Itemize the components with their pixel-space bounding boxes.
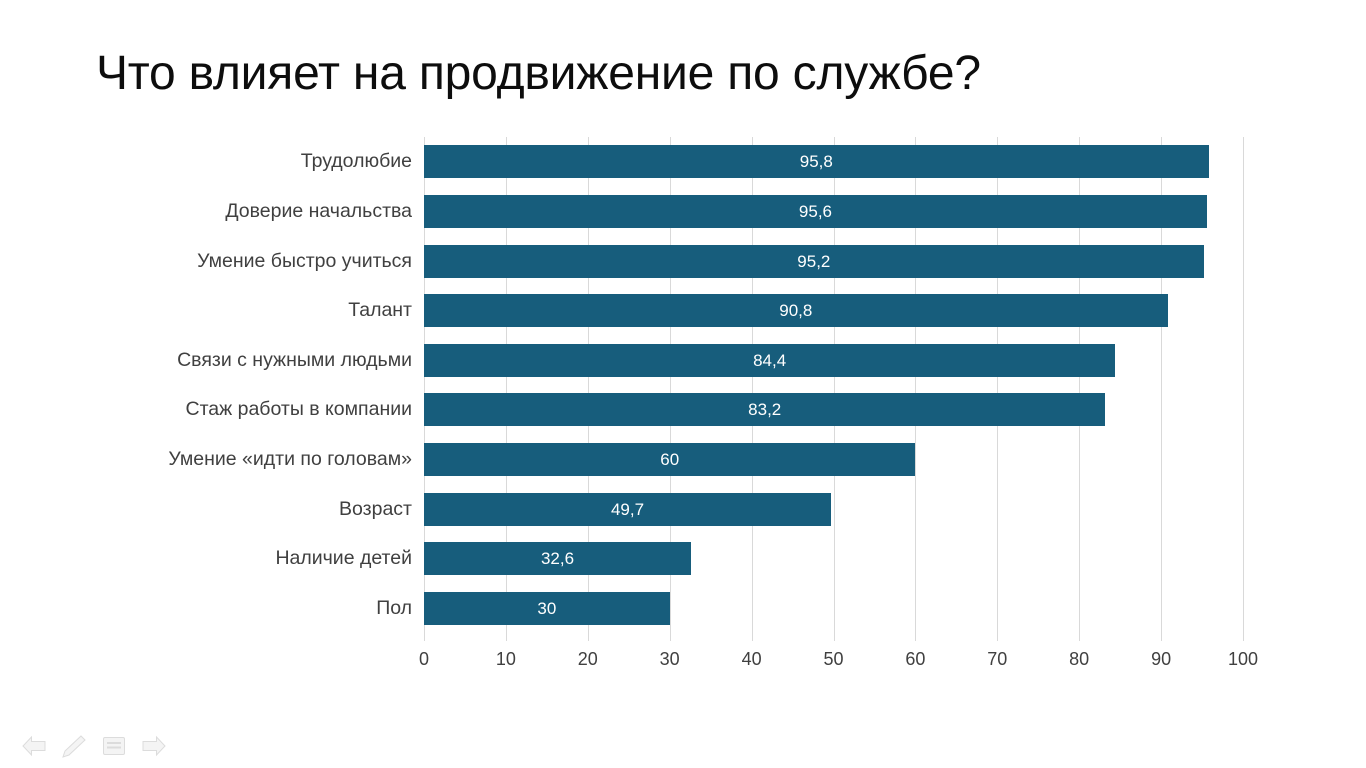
tick-mark	[1079, 633, 1080, 641]
tick-mark	[1161, 633, 1162, 641]
bar-chart: ТрудолюбиеДоверие начальстваУмение быстр…	[0, 120, 1366, 680]
tick-mark	[588, 633, 589, 641]
x-tick-label: 20	[558, 649, 618, 670]
pen-tool-button[interactable]	[60, 732, 88, 760]
category-label: Наличие детей	[275, 542, 412, 575]
category-label: Умение быстро учиться	[197, 245, 412, 278]
category-label: Талант	[348, 294, 412, 327]
x-tick-label: 40	[722, 649, 782, 670]
slide-menu-button[interactable]	[100, 732, 128, 760]
bar[interactable]	[424, 245, 1204, 278]
category-label: Доверие начальства	[225, 195, 412, 228]
x-tick-label: 50	[804, 649, 864, 670]
x-tick-label: 70	[967, 649, 1027, 670]
tick-mark	[506, 633, 507, 641]
pen-icon	[61, 734, 87, 758]
x-tick-label: 0	[394, 649, 454, 670]
category-label: Возраст	[339, 493, 412, 526]
x-tick-label: 30	[640, 649, 700, 670]
x-tick-label: 90	[1131, 649, 1191, 670]
category-label: Связи с нужными людьми	[177, 344, 412, 377]
bar[interactable]	[424, 393, 1105, 426]
category-label: Пол	[376, 592, 412, 625]
bar[interactable]	[424, 592, 670, 625]
next-slide-button[interactable]	[140, 732, 168, 760]
bar[interactable]	[424, 542, 691, 575]
category-label: Умение «идти по головам»	[168, 443, 412, 476]
left-arrow-icon	[21, 735, 47, 757]
bar[interactable]	[424, 145, 1209, 178]
bar[interactable]	[424, 493, 831, 526]
plot-area: 95,895,695,290,884,483,26049,732,630	[424, 137, 1243, 633]
previous-slide-button[interactable]	[20, 732, 48, 760]
bar[interactable]	[424, 195, 1207, 228]
bar[interactable]	[424, 344, 1115, 377]
x-tick-label: 80	[1049, 649, 1109, 670]
tick-mark	[752, 633, 753, 641]
category-axis: ТрудолюбиеДоверие начальстваУмение быстр…	[96, 137, 412, 633]
tick-mark	[997, 633, 998, 641]
category-label: Стаж работы в компании	[186, 393, 412, 426]
tick-mark	[915, 633, 916, 641]
menu-icon	[102, 735, 126, 757]
category-label: Трудолюбие	[301, 145, 412, 178]
gridline	[1243, 137, 1244, 633]
tick-mark	[834, 633, 835, 641]
tick-mark	[670, 633, 671, 641]
value-axis: 0102030405060708090100	[424, 633, 1243, 679]
x-tick-label: 100	[1213, 649, 1273, 670]
presentation-toolbar	[0, 724, 1366, 768]
page-title: Что влияет на продвижение по службе?	[96, 44, 1276, 108]
right-arrow-icon	[141, 735, 167, 757]
tick-mark	[424, 633, 425, 641]
bar[interactable]	[424, 443, 915, 476]
tick-mark	[1243, 633, 1244, 641]
x-tick-label: 10	[476, 649, 536, 670]
bar[interactable]	[424, 294, 1168, 327]
x-tick-label: 60	[885, 649, 945, 670]
